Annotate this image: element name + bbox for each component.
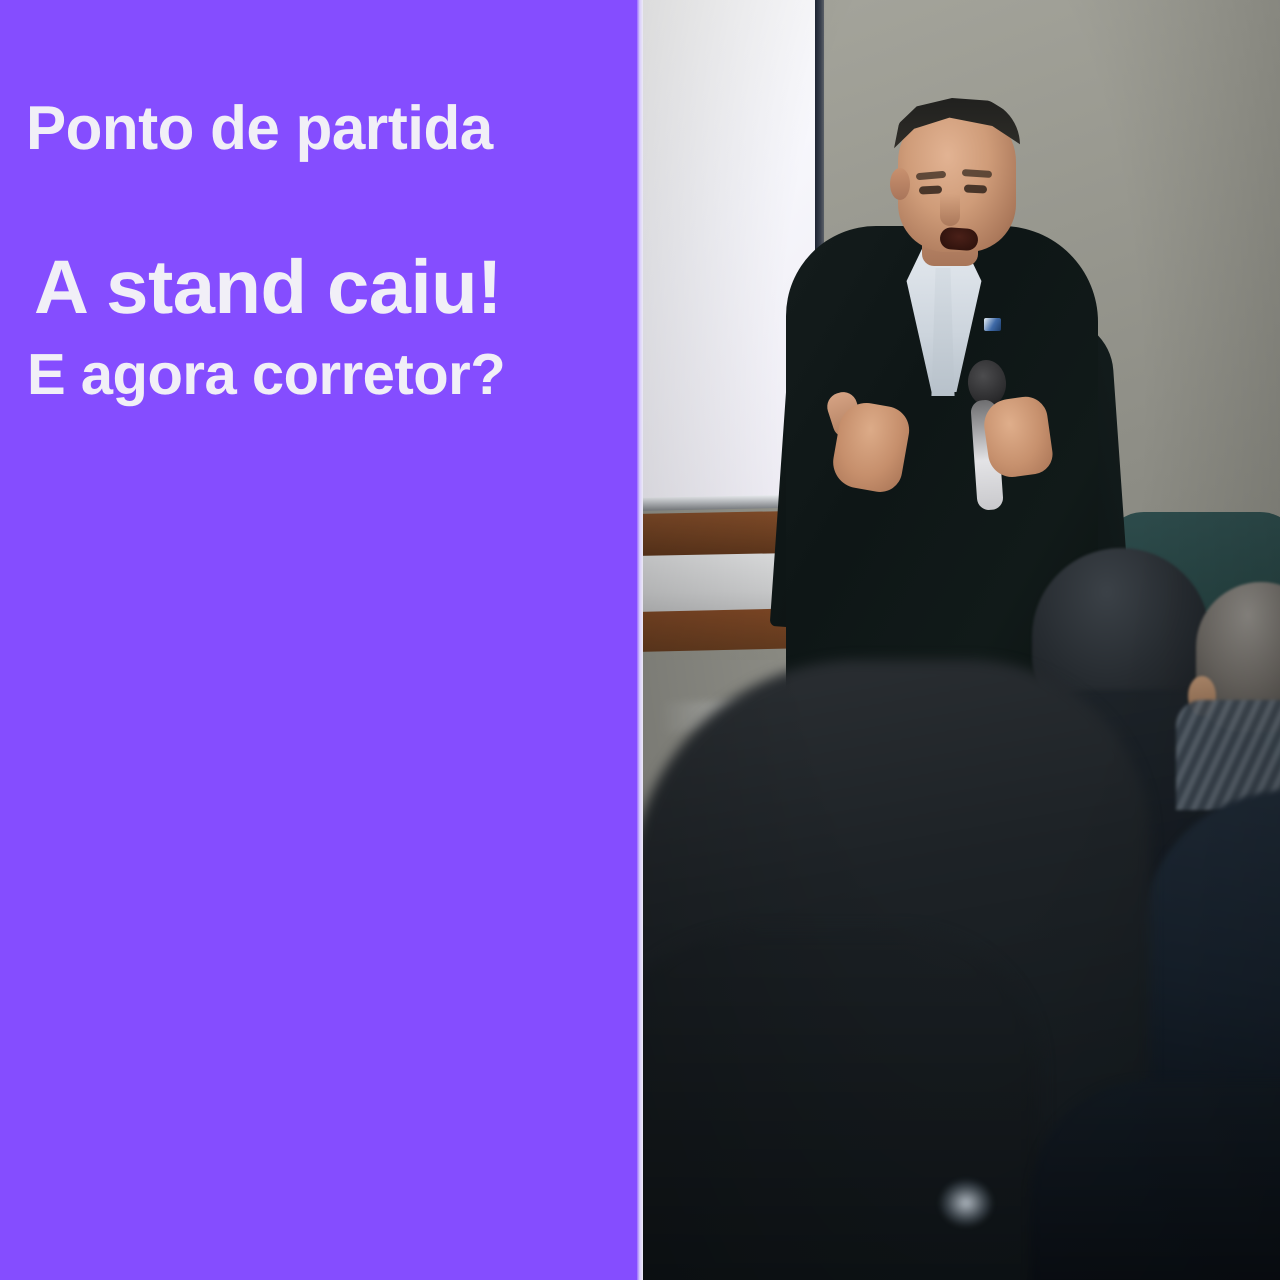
presentation-photo [640, 0, 1280, 1280]
headline-line-2: A stand caiu! [34, 250, 502, 326]
speaker-lapel-pin [984, 318, 1001, 331]
speaker-ear [890, 168, 910, 200]
speaker-eye-left [919, 185, 942, 194]
foreground-glint [940, 1180, 992, 1226]
speaker-hand-right [981, 394, 1055, 480]
panel-divider [637, 0, 643, 1280]
speaker-nose [940, 194, 960, 226]
text-panel: Ponto de partida A stand caiu! E agora c… [0, 0, 637, 1280]
headline-line-3: E agora corretor? [27, 346, 505, 404]
speaker-eye-right [964, 184, 987, 193]
headline-line-1: Ponto de partida [26, 98, 493, 160]
speaker-mouth [939, 227, 978, 252]
audience-silhouette-foreground [640, 930, 1040, 1280]
social-poster: Ponto de partida A stand caiu! E agora c… [0, 0, 1280, 1280]
photo-content [640, 0, 1280, 1280]
